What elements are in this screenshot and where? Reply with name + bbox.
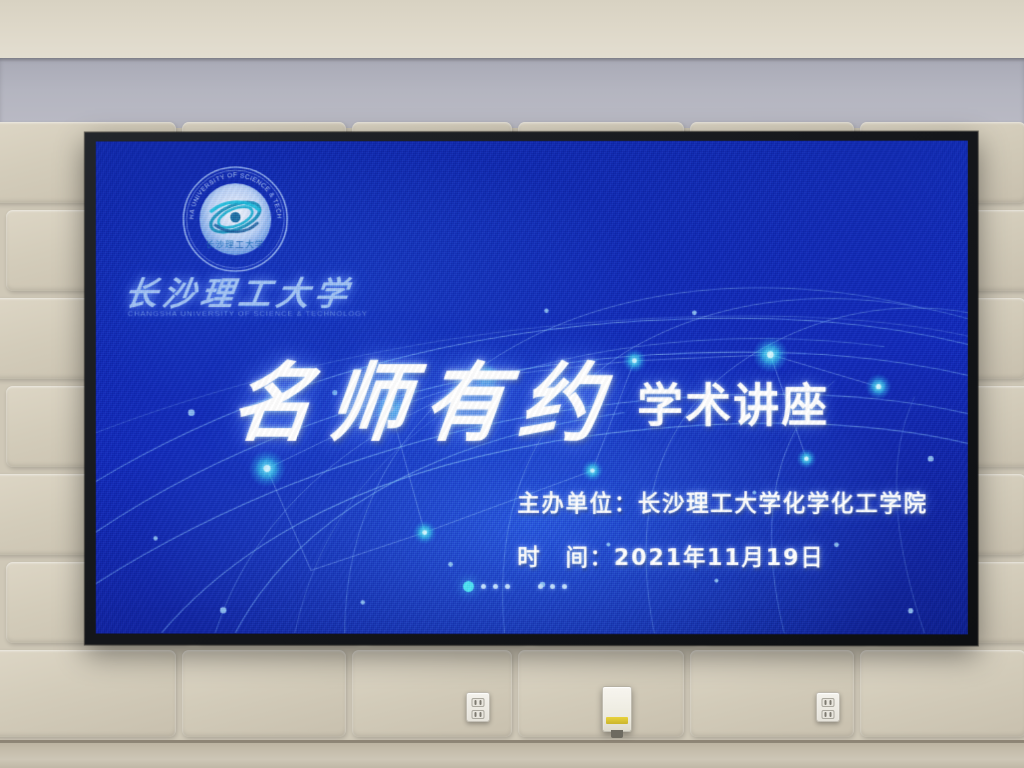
university-branding: CHANGSHA UNIVERSITY OF SCIENCE & TECHNOL… bbox=[118, 163, 367, 318]
dot-accent-large bbox=[463, 581, 474, 592]
power-outlet-right[interactable] bbox=[816, 692, 840, 722]
dot-accent bbox=[538, 584, 543, 589]
wall-panel bbox=[182, 650, 346, 737]
junction-box-center[interactable] bbox=[602, 686, 632, 732]
ceiling-slab bbox=[0, 0, 1024, 66]
slide-content: CHANGSHA UNIVERSITY OF SCIENCE & TECHNOL… bbox=[96, 141, 968, 635]
university-name-en: CHANGSHA UNIVERSITY OF SCIENCE & TECHNOL… bbox=[128, 309, 365, 318]
event-info-block: 主办单位：长沙理工大学化学化工学院 时 间：2021年11月19日 bbox=[517, 486, 927, 594]
dot-accent bbox=[505, 584, 510, 589]
svg-text:长沙理工大学: 长沙理工大学 bbox=[206, 239, 265, 249]
dot-accent bbox=[493, 584, 498, 589]
headline-subtitle: 学术讲座 bbox=[637, 369, 829, 435]
university-name-cn: 长沙理工大学 bbox=[123, 267, 364, 309]
decorative-dots bbox=[463, 581, 567, 592]
floor-strip bbox=[0, 740, 1024, 768]
dot-accent bbox=[481, 584, 486, 589]
outlet-socket bbox=[472, 710, 485, 719]
wall-panel bbox=[518, 650, 684, 737]
junction-cable-stub bbox=[611, 730, 623, 738]
dot-accent bbox=[562, 584, 567, 589]
outlet-socket bbox=[822, 698, 835, 707]
outlet-socket bbox=[822, 710, 835, 719]
headline-block: 名师有约 学术讲座 bbox=[96, 346, 968, 446]
organizer-line: 主办单位：长沙理工大学化学化工学院 bbox=[517, 486, 927, 518]
led-screen-bezel: CHANGSHA UNIVERSITY OF SCIENCE & TECHNOL… bbox=[85, 132, 978, 646]
conference-room-scene: CHANGSHA UNIVERSITY OF SCIENCE & TECHNOL… bbox=[0, 0, 1024, 768]
power-outlet-left[interactable] bbox=[466, 692, 490, 722]
led-screen-surface: CHANGSHA UNIVERSITY OF SCIENCE & TECHNOL… bbox=[96, 141, 968, 635]
junction-label bbox=[606, 717, 628, 724]
dot-accent bbox=[550, 584, 555, 589]
university-crest-icon: CHANGSHA UNIVERSITY OF SCIENCE & TECHNOL… bbox=[180, 163, 292, 275]
headline-calligraphy: 名师有约 bbox=[226, 334, 639, 458]
wall-panel bbox=[0, 650, 176, 737]
wall-panel bbox=[860, 650, 1024, 737]
datetime-line: 时 间：2021年11月19日 bbox=[517, 540, 927, 572]
outlet-socket bbox=[472, 698, 485, 707]
